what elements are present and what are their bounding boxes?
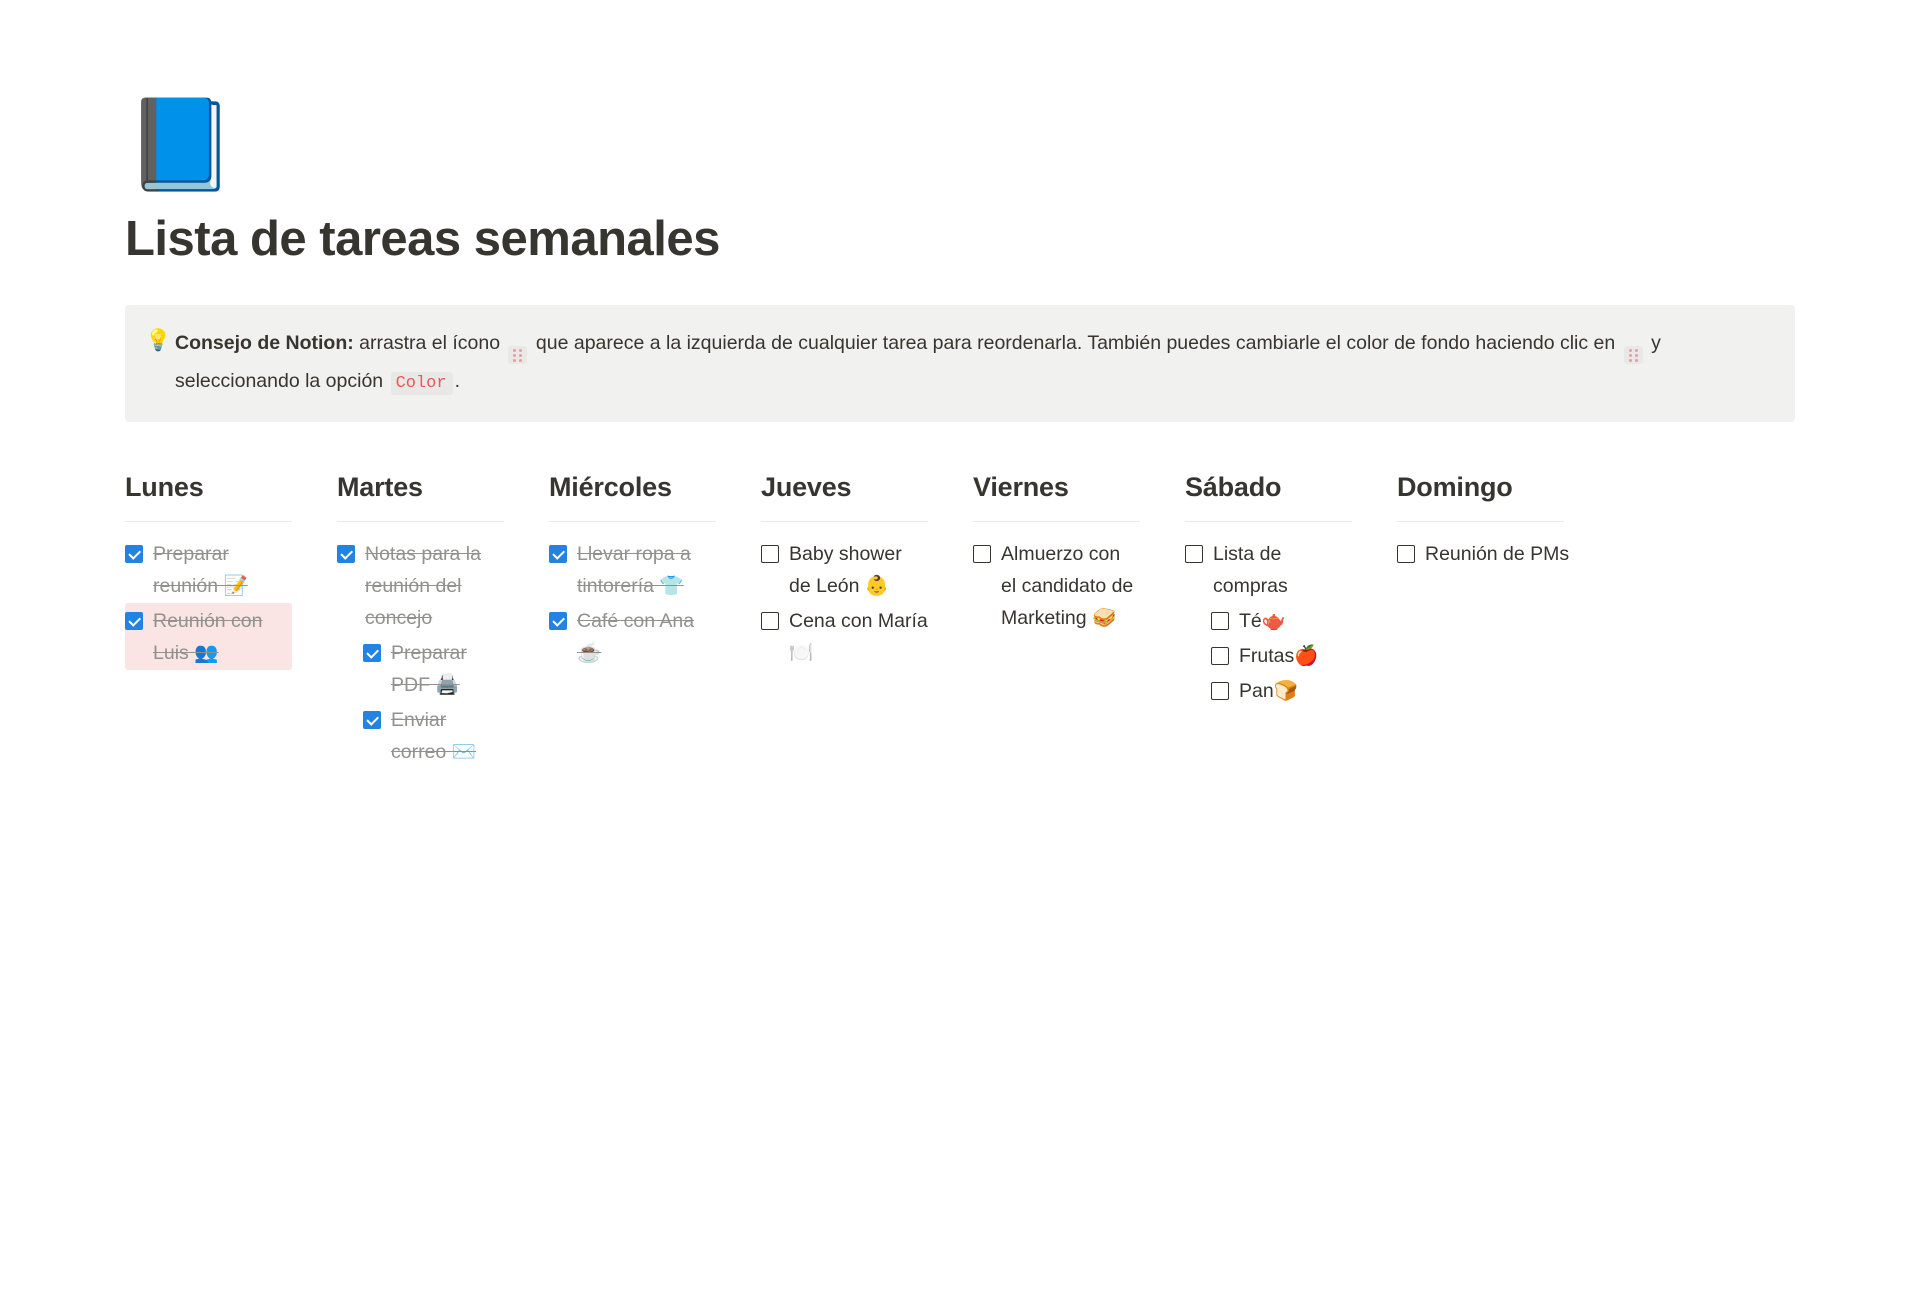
day-column-miércoles: MiércolesLlevar ropa a tintorería 👕Café … <box>549 470 761 769</box>
checkbox-unchecked-icon[interactable] <box>1211 682 1229 700</box>
checkbox-unchecked-icon[interactable] <box>1397 545 1415 563</box>
todo-item-label[interactable]: Preparar PDF 🖨️ <box>391 637 504 701</box>
week-columns: LunesPreparar reunión 📝Reunión con Luis … <box>125 470 1795 769</box>
callout-text-part-1: arrastra el ícono <box>354 332 506 354</box>
day-column-martes: MartesNotas para la reunión del concejoP… <box>337 470 549 769</box>
checkbox-checked-icon[interactable] <box>363 711 381 729</box>
todo-item-label[interactable]: Enviar correo ✉️ <box>391 704 504 768</box>
todo-list: Almuerzo con el candidato de Marketing 🥪 <box>973 536 1140 635</box>
checkbox-checked-icon[interactable] <box>125 545 143 563</box>
day-column-viernes: ViernesAlmuerzo con el candidato de Mark… <box>973 470 1185 769</box>
callout-text: Consejo de Notion: arrastra el ícono que… <box>175 326 1773 401</box>
day-column-lunes: LunesPreparar reunión 📝Reunión con Luis … <box>125 470 337 769</box>
day-column-sábado: SábadoLista de comprasTé🫖Frutas🍎Pan🍞 <box>1185 470 1397 769</box>
checkbox-checked-icon[interactable] <box>363 644 381 662</box>
checkbox-unchecked-icon[interactable] <box>1211 612 1229 630</box>
todo-item-label[interactable]: Reunión de PMs <box>1425 538 1609 570</box>
todo-item[interactable]: Preparar PDF 🖨️ <box>337 635 504 702</box>
todo-item[interactable]: Reunión con Luis 👥 <box>125 603 292 670</box>
day-column-jueves: JuevesBaby shower de León 👶Cena con Marí… <box>761 470 973 769</box>
day-divider <box>1397 521 1564 522</box>
callout-block[interactable]: 💡 Consejo de Notion: arrastra el ícono q… <box>125 305 1795 422</box>
day-divider <box>337 521 504 522</box>
todo-item-label[interactable]: Almuerzo con el candidato de Marketing 🥪 <box>1001 538 1140 634</box>
callout-text-part-4: . <box>455 370 460 392</box>
color-option-code[interactable]: Color <box>391 372 453 395</box>
todo-item[interactable]: Té🫖 <box>1185 603 1352 638</box>
checkbox-unchecked-icon[interactable] <box>973 545 991 563</box>
todo-item[interactable]: Almuerzo con el candidato de Marketing 🥪 <box>973 536 1140 635</box>
todo-item-label[interactable]: Preparar reunión 📝 <box>153 538 292 602</box>
checkbox-checked-icon[interactable] <box>549 545 567 563</box>
day-column-domingo: DomingoReunión de PMs <box>1397 470 1609 769</box>
todo-item-label[interactable]: Pan🍞 <box>1239 675 1352 707</box>
checkbox-unchecked-icon[interactable] <box>1211 647 1229 665</box>
todo-list: Preparar reunión 📝Reunión con Luis 👥 <box>125 536 292 670</box>
drag-handle-icon[interactable] <box>1624 346 1643 364</box>
day-divider <box>761 521 928 522</box>
todo-item-label[interactable]: Frutas🍎 <box>1239 640 1352 672</box>
day-heading[interactable]: Martes <box>337 470 504 505</box>
todo-list: Notas para la reunión del concejoPrepara… <box>337 536 504 769</box>
todo-list: Reunión de PMs <box>1397 536 1609 571</box>
day-heading[interactable]: Lunes <box>125 470 292 505</box>
day-heading[interactable]: Viernes <box>973 470 1140 505</box>
todo-item[interactable]: Pan🍞 <box>1185 673 1352 708</box>
day-divider <box>1185 521 1352 522</box>
todo-item[interactable]: Cena con María 🍽️ <box>761 603 928 670</box>
todo-item-label[interactable]: Café con Ana ☕ <box>577 605 716 669</box>
todo-item-label[interactable]: Lista de compras <box>1213 538 1352 602</box>
page-icon[interactable]: 📘 <box>125 100 223 198</box>
todo-item-label[interactable]: Té🫖 <box>1239 605 1352 637</box>
todo-list: Llevar ropa a tintorería 👕Café con Ana ☕ <box>549 536 716 670</box>
checkbox-checked-icon[interactable] <box>337 545 355 563</box>
checkbox-unchecked-icon[interactable] <box>761 545 779 563</box>
day-heading[interactable]: Domingo <box>1397 470 1609 505</box>
todo-item[interactable]: Baby shower de León 👶 <box>761 536 928 603</box>
callout-text-part-2: que aparece a la izquierda de cualquier … <box>530 332 1620 354</box>
checkbox-checked-icon[interactable] <box>125 612 143 630</box>
notion-page: 📘 Lista de tareas semanales 💡 Consejo de… <box>0 100 1920 1299</box>
checkbox-checked-icon[interactable] <box>549 612 567 630</box>
todo-item-label[interactable]: Baby shower de León 👶 <box>789 538 928 602</box>
todo-item[interactable]: Lista de compras <box>1185 536 1352 603</box>
todo-item-label[interactable]: Reunión con Luis 👥 <box>153 605 292 669</box>
drag-handle-icon[interactable] <box>508 346 527 364</box>
todo-item[interactable]: Preparar reunión 📝 <box>125 536 292 603</box>
todo-item[interactable]: Frutas🍎 <box>1185 638 1352 673</box>
day-divider <box>125 521 292 522</box>
day-heading[interactable]: Sábado <box>1185 470 1352 505</box>
day-divider <box>973 521 1140 522</box>
todo-item[interactable]: Llevar ropa a tintorería 👕 <box>549 536 716 603</box>
lightbulb-icon: 💡 <box>145 326 175 356</box>
page-title[interactable]: Lista de tareas semanales <box>125 210 1795 269</box>
checkbox-unchecked-icon[interactable] <box>1185 545 1203 563</box>
todo-list: Lista de comprasTé🫖Frutas🍎Pan🍞 <box>1185 536 1352 708</box>
todo-item[interactable]: Notas para la reunión del concejo <box>337 536 504 635</box>
todo-list: Baby shower de León 👶Cena con María 🍽️ <box>761 536 928 670</box>
callout-lead-label: Consejo de Notion: <box>175 332 354 354</box>
day-heading[interactable]: Miércoles <box>549 470 716 505</box>
day-heading[interactable]: Jueves <box>761 470 928 505</box>
todo-item-label[interactable]: Llevar ropa a tintorería 👕 <box>577 538 716 602</box>
todo-item[interactable]: Enviar correo ✉️ <box>337 702 504 769</box>
day-divider <box>549 521 716 522</box>
checkbox-unchecked-icon[interactable] <box>761 612 779 630</box>
todo-item[interactable]: Café con Ana ☕ <box>549 603 716 670</box>
todo-item[interactable]: Reunión de PMs <box>1397 536 1609 571</box>
todo-item-label[interactable]: Cena con María 🍽️ <box>789 605 928 669</box>
todo-item-label[interactable]: Notas para la reunión del concejo <box>365 538 504 634</box>
